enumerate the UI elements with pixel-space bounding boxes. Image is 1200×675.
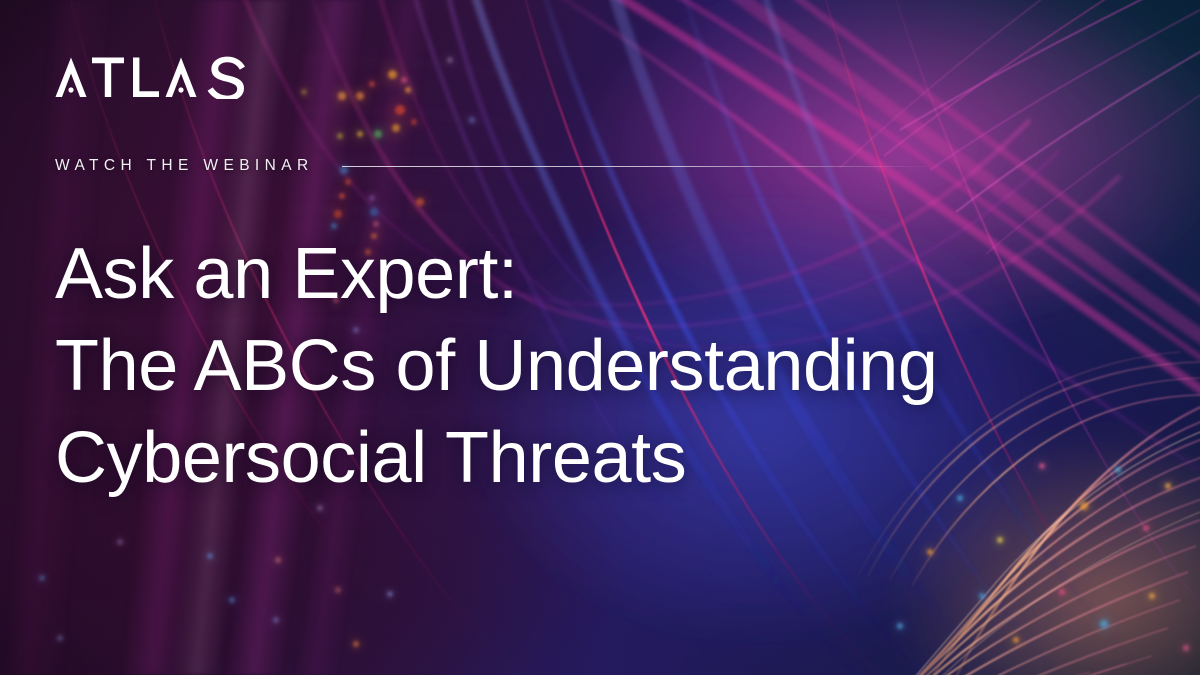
eyebrow-row: WATCH THE WEBINAR <box>55 157 955 175</box>
banner-content: ATLAS WATCH THE WEBINAR Ask an Expert: T… <box>55 0 1200 675</box>
atlas-wordmark-icon <box>55 55 247 99</box>
atlas-logo[interactable]: ATLAS <box>55 55 247 99</box>
eyebrow-label: WATCH THE WEBINAR <box>55 157 314 175</box>
headline-line-3: Cybersocial Threats <box>55 412 938 504</box>
eyebrow-divider-rule <box>342 166 938 167</box>
page-title: Ask an Expert: The ABCs of Understanding… <box>55 228 938 504</box>
webinar-promo-banner: ATLAS WATCH THE WEBINAR Ask an Expert: T… <box>0 0 1200 675</box>
headline-line-1: Ask an Expert: <box>55 228 938 320</box>
headline-line-2: The ABCs of Understanding <box>55 320 938 412</box>
